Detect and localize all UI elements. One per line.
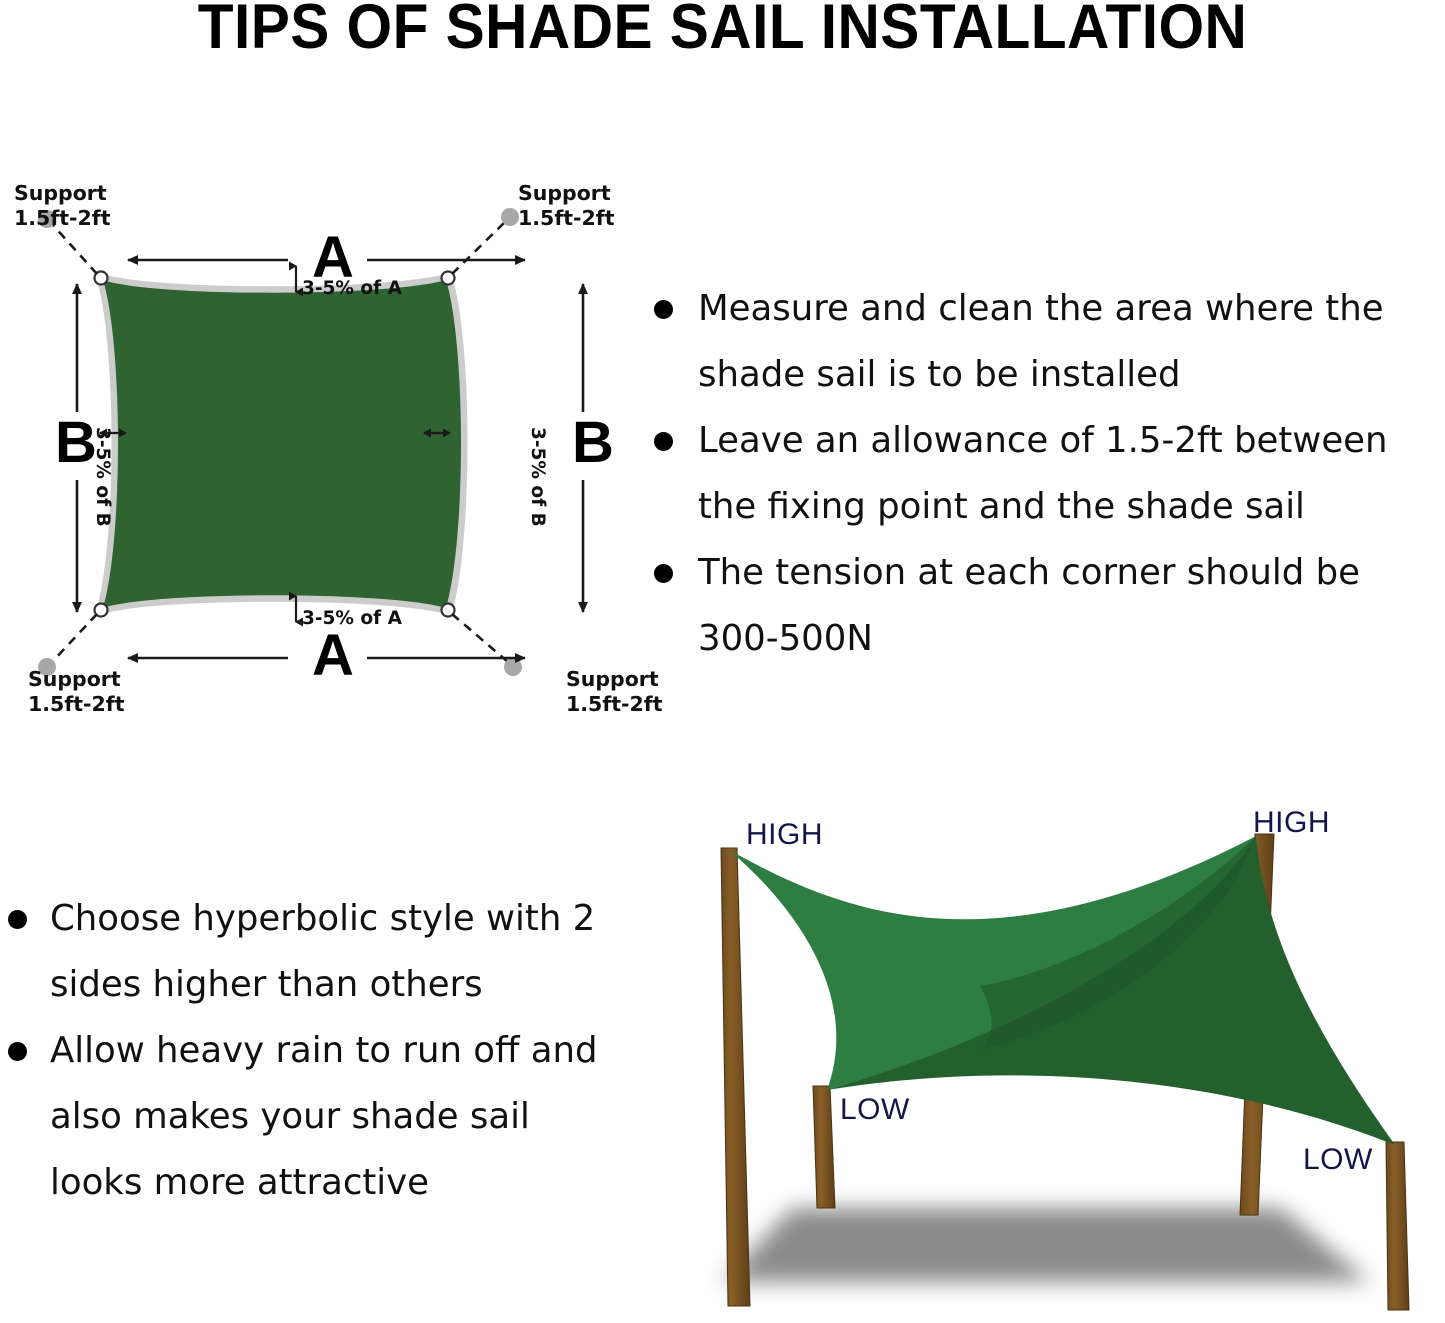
- bullet-dot-icon: [8, 1042, 27, 1061]
- installation-tips-list: Measure and clean the area where the sha…: [640, 276, 1445, 672]
- bullet-dot-icon: [654, 432, 673, 451]
- support-label-top-right: Support 1.5ft-2ft: [518, 181, 615, 231]
- curve-note-left: 3-5% of B: [92, 427, 113, 527]
- support-label-top-left: Support 1.5ft-2ft: [14, 181, 111, 231]
- support-label-line2: 1.5ft-2ft: [518, 206, 615, 230]
- tip-text: Leave an allowance of 1.5-2ft between th…: [698, 420, 1388, 527]
- curve-note-right: 3-5% of B: [527, 427, 548, 527]
- support-label-line2: 1.5ft-2ft: [14, 206, 111, 230]
- bullet-dot-icon: [654, 564, 673, 583]
- support-label-line1: Support: [518, 181, 611, 205]
- list-item: The tension at each corner should be 300…: [640, 540, 1445, 672]
- curve-note-top: 3-5% of A: [302, 278, 402, 299]
- ground-shadow: [722, 1208, 1370, 1282]
- tip-text: Measure and clean the area where the sha…: [698, 288, 1384, 395]
- support-label-bottom-right: Support 1.5ft-2ft: [566, 667, 663, 717]
- label-low-right: LOW: [1303, 1143, 1373, 1177]
- bullet-dot-icon: [8, 910, 27, 929]
- support-label-line2: 1.5ft-2ft: [28, 692, 125, 716]
- dimension-letter-a-bottom: A: [312, 627, 354, 685]
- bullet-dot-icon: [654, 300, 673, 319]
- list-item: Allow heavy rain to run off and also mak…: [0, 1018, 630, 1216]
- tip-text: Choose hyperbolic style with 2 sides hig…: [50, 898, 595, 1005]
- tip-text: The tension at each corner should be 300…: [698, 552, 1360, 659]
- label-low-left: LOW: [840, 1093, 910, 1127]
- tip-text: Allow heavy rain to run off and also mak…: [50, 1030, 598, 1203]
- dimension-letter-b-right: B: [572, 414, 614, 472]
- curve-note-bottom: 3-5% of A: [302, 608, 402, 629]
- label-high-left: HIGH: [746, 818, 823, 852]
- support-label-bottom-left: Support 1.5ft-2ft: [28, 667, 125, 717]
- hyperbolic-style-tips-list: Choose hyperbolic style with 2 sides hig…: [0, 886, 630, 1216]
- support-label-line1: Support: [28, 667, 121, 691]
- dimension-letter-b-left: B: [55, 414, 97, 472]
- page-title: TIPS OF SHADE SAIL INSTALLATION: [51, 0, 1395, 60]
- support-label-line2: 1.5ft-2ft: [566, 692, 663, 716]
- list-item: Measure and clean the area where the sha…: [640, 276, 1445, 408]
- list-item: Choose hyperbolic style with 2 sides hig…: [0, 886, 630, 1018]
- list-item: Leave an allowance of 1.5-2ft between th…: [640, 408, 1445, 540]
- label-high-right: HIGH: [1253, 806, 1330, 840]
- hyperbolic-sail-diagram: [680, 790, 1445, 1319]
- support-label-line1: Support: [14, 181, 107, 205]
